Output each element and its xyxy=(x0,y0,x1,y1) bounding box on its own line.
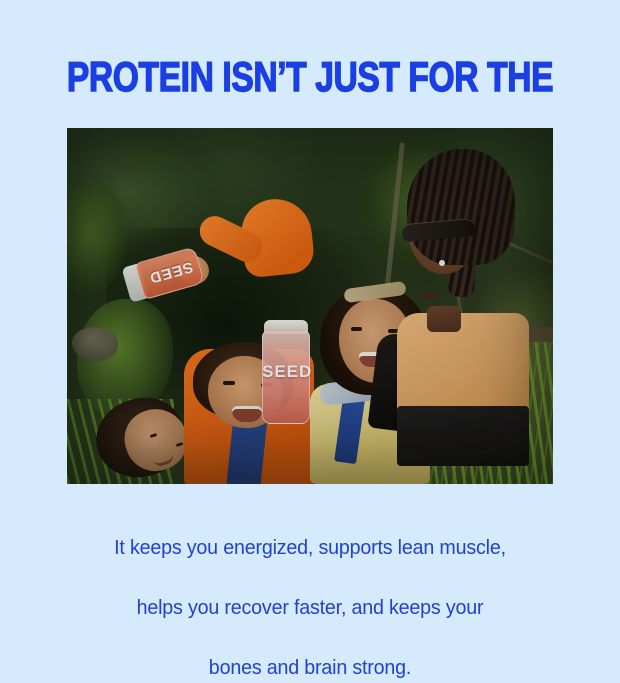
person-1-open-smile xyxy=(232,406,262,422)
seed-bottle-2-label: SEED xyxy=(262,362,310,382)
caption-line-1: It keeps you energized, supports lean mu… xyxy=(114,536,506,559)
headline-line-1: PROTEIN ISN’T JUST FOR THE xyxy=(62,58,558,96)
page-caption: It keeps you energized, supports lean mu… xyxy=(12,503,607,683)
caption-line-2: helps you recover faster, and keeps your xyxy=(137,596,484,619)
person-3-neck xyxy=(427,306,461,332)
caption-line-3: bones and brain strong. xyxy=(209,656,411,679)
seed-bottle-upright: SEED xyxy=(262,320,310,424)
person-3-earring xyxy=(439,260,445,266)
person-2-eye-left xyxy=(351,327,362,331)
person-1-eye-left xyxy=(223,381,235,385)
person-3-braided-hair xyxy=(407,149,515,265)
hero-photo: SEED SEED xyxy=(67,128,553,484)
person-3-black-pants xyxy=(397,406,529,466)
